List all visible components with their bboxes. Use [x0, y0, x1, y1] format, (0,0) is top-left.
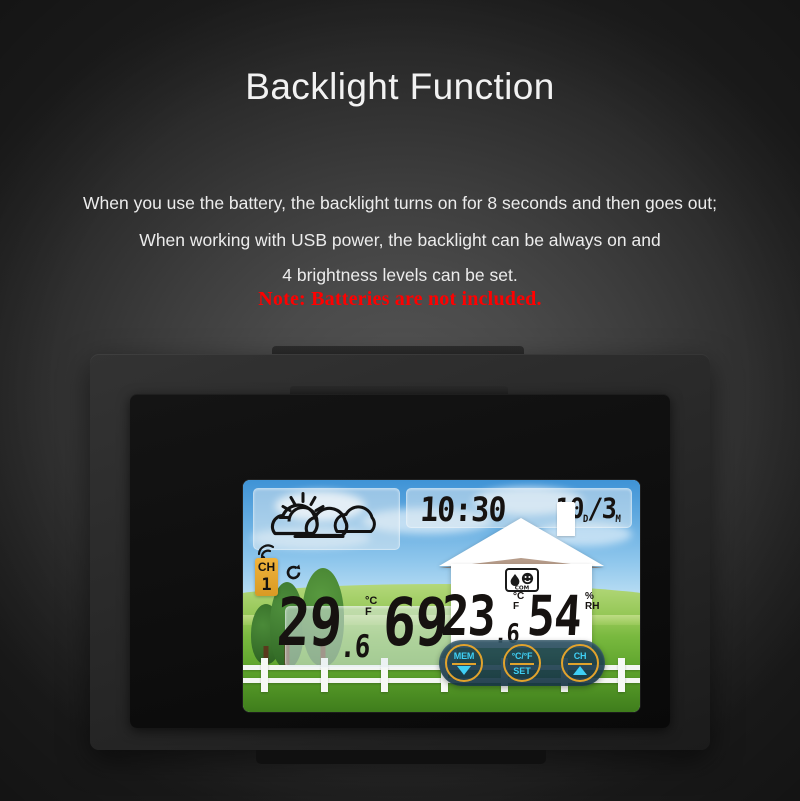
channel-badge: CH 1 [255, 558, 278, 596]
outdoor-temp-unit-bottom: F [365, 606, 372, 618]
mem-button-label: MEM [447, 651, 481, 661]
battery-note: Note: Batteries are not included. [0, 288, 800, 311]
unit-set-button[interactable]: °C/°F SET [503, 644, 541, 682]
date-day-sub: M [615, 514, 620, 525]
description-line-2: When working with USB power, the backlig… [0, 230, 800, 251]
description-line-1: When you use the battery, the backlight … [0, 193, 800, 214]
indoor-humidity-unit: % RH [585, 592, 599, 612]
control-button-bar: MEM °C/°F SET CH [439, 640, 605, 686]
indoor-house-graphic: COM 23 .6 °C F 54 % [439, 518, 604, 648]
channel-number: 1 [255, 575, 278, 595]
arrow-down-icon [457, 666, 471, 675]
partly-cloudy-icon [265, 492, 389, 547]
button-divider [510, 663, 534, 665]
indoor-temperature: 23 [440, 588, 497, 643]
ch-button-label: CH [563, 651, 597, 661]
sync-refresh-icon [285, 564, 302, 581]
outdoor-temperature: 29 [275, 590, 343, 656]
mem-button[interactable]: MEM [445, 644, 483, 682]
arrow-up-icon [573, 666, 587, 675]
set-button-label: SET [505, 666, 539, 676]
description-line-3: 4 brightness levels can be set. [0, 265, 800, 286]
indoor-temp-unit-bottom: F [513, 601, 519, 612]
page-title: Backlight Function [0, 66, 800, 108]
lcd-screen: 10:30 10D/3M CH [243, 480, 640, 712]
indoor-humidity-unit-bottom: RH [585, 601, 599, 612]
device-inner-bezel: 10:30 10D/3M CH [130, 394, 670, 728]
outdoor-temp-unit: °C F [365, 596, 377, 618]
button-divider [452, 663, 476, 665]
ch-button[interactable]: CH [561, 644, 599, 682]
screenshot-root: Backlight Function When you use the batt… [0, 0, 800, 801]
unit-button-label: °C/°F [505, 651, 539, 661]
channel-label: CH [255, 560, 278, 574]
outdoor-temperature-decimal: .6 [339, 632, 370, 663]
button-divider [568, 663, 592, 665]
weather-station-device: 10:30 10D/3M CH [90, 346, 710, 758]
indoor-temp-unit: °C F [513, 592, 524, 612]
indoor-humidity: 54 [526, 588, 583, 643]
rf-signal-icon [254, 540, 280, 560]
device-bottom-tab [256, 748, 546, 764]
device-outer-bezel: 10:30 10D/3M CH [90, 354, 710, 750]
